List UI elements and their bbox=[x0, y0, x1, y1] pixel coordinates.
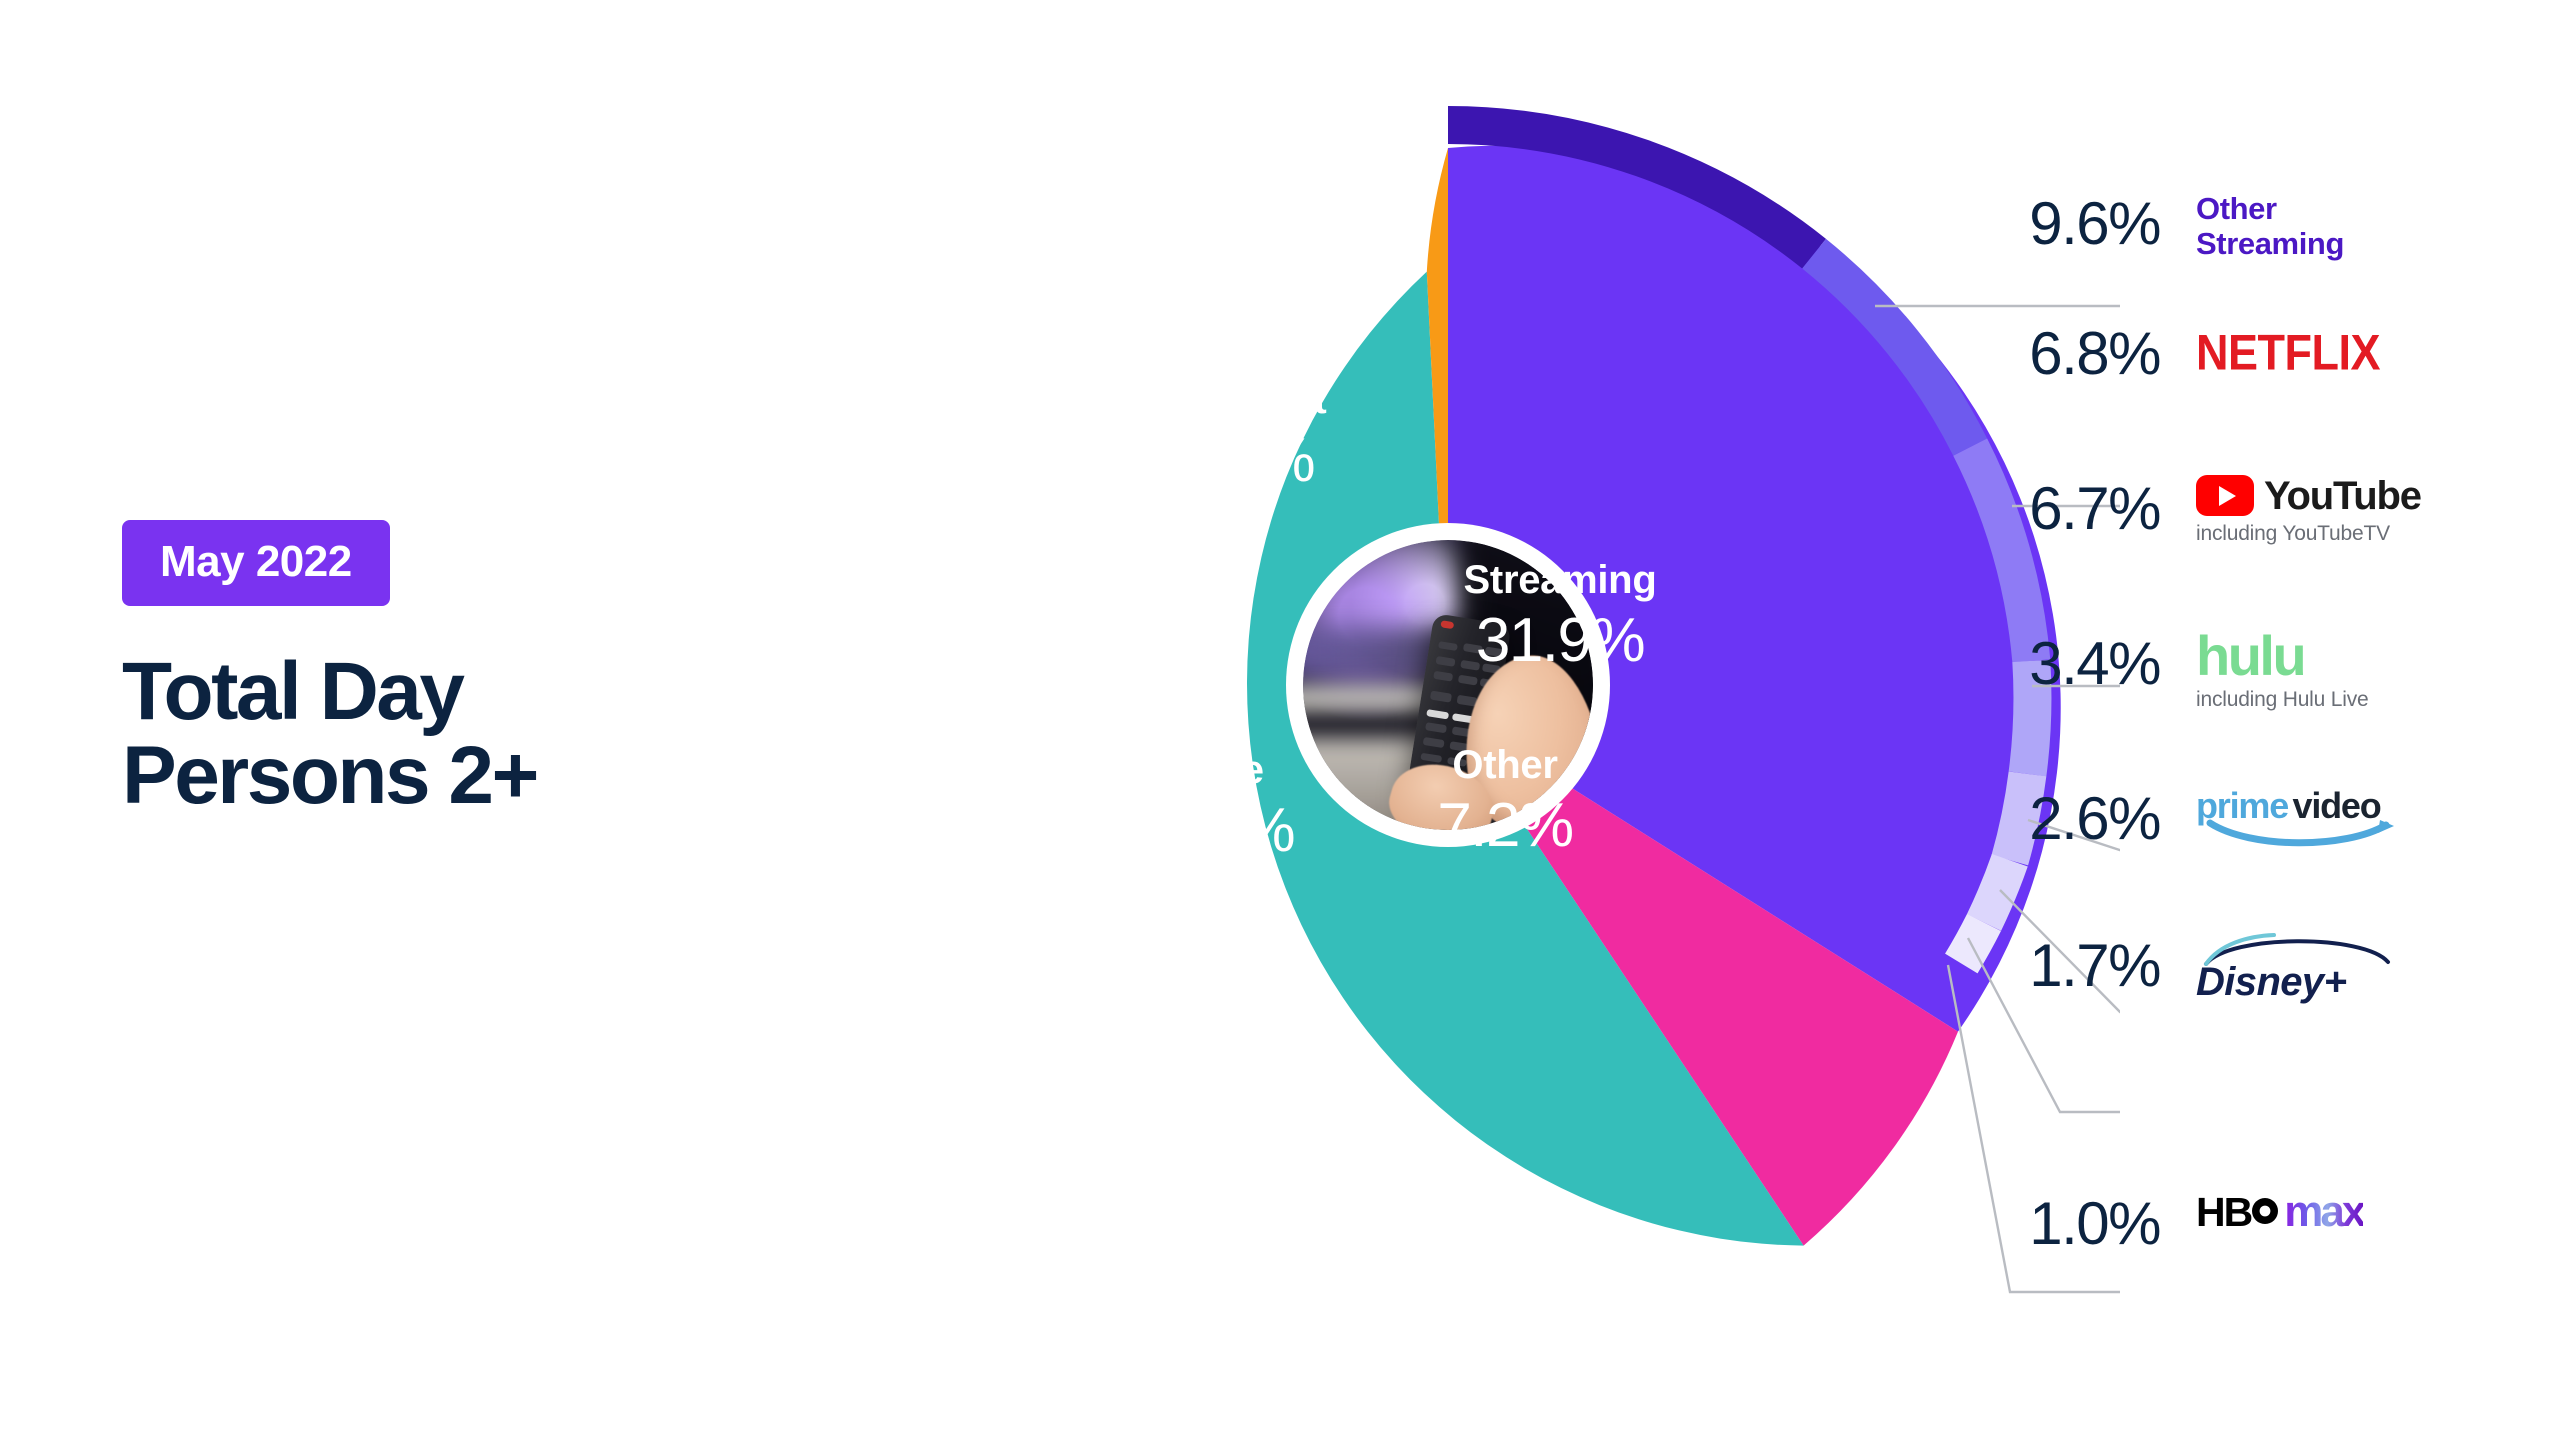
max-wordmark: max bbox=[2284, 1190, 2363, 1234]
legend-row-disney-plus[interactable]: 1.7% Disney+ bbox=[2000, 932, 2426, 1028]
slice-label-broadcast-value: 24.4% bbox=[1070, 430, 1390, 492]
slice-label-broadcast-name: Broadcast bbox=[1070, 380, 1390, 420]
legend-pct-youtube: 6.7% bbox=[2000, 475, 2160, 539]
page-title: Total Day Persons 2+ bbox=[122, 650, 762, 819]
slice-label-streaming-name: Streaming bbox=[1400, 560, 1720, 600]
youtube-play-icon bbox=[2196, 475, 2254, 516]
legend-brand-disney-plus: Disney+ bbox=[2196, 932, 2426, 1005]
donut-chart: Broadcast 24.4% Streaming 31.9% Cable 36… bbox=[760, 60, 2120, 1390]
legend-brand-netflix: NETFLIX bbox=[2196, 320, 2426, 371]
legend-pct-prime-video: 2.6% bbox=[2000, 785, 2160, 849]
legend-row-youtube[interactable]: 6.7% YouTube including YouTubeTV bbox=[2000, 475, 2426, 571]
legend-brand-other-streaming: Other Streaming bbox=[2196, 190, 2426, 261]
legend-pct-hulu: 3.4% bbox=[2000, 630, 2160, 694]
legend-row-other-streaming[interactable]: 9.6% Other Streaming bbox=[2000, 190, 2426, 286]
youtube-subtext: including YouTubeTV bbox=[2196, 522, 2426, 545]
legend-pct-other-streaming: 9.6% bbox=[2000, 190, 2160, 254]
legend-pct-disney-plus: 1.7% bbox=[2000, 932, 2160, 996]
legend-row-hulu[interactable]: 3.4% hulu including Hulu Live bbox=[2000, 630, 2426, 726]
legend-row-hbo-max[interactable]: 1.0% HB max bbox=[2000, 1190, 2426, 1286]
netflix-logo: NETFLIX bbox=[2196, 320, 2426, 377]
legend-row-netflix[interactable]: 6.8% NETFLIX bbox=[2000, 320, 2426, 416]
slice-label-cable-value: 36.5% bbox=[1050, 800, 1370, 862]
ring-segment-hbo-max[interactable] bbox=[1961, 923, 1984, 964]
date-badge: May 2022 bbox=[122, 520, 390, 606]
hulu-logo: hulu bbox=[2196, 630, 2426, 682]
other-streaming-label: Other Streaming bbox=[2196, 190, 2426, 261]
legend-pct-netflix: 6.8% bbox=[2000, 320, 2160, 384]
youtube-wordmark: YouTube bbox=[2264, 476, 2421, 516]
hbo-o-ring-icon bbox=[2250, 1196, 2280, 1226]
title-panel: May 2022 Total Day Persons 2+ bbox=[122, 520, 762, 819]
hulu-subtext: including Hulu Live bbox=[2196, 688, 2426, 711]
hbo-max-logo: HB max bbox=[2196, 1190, 2426, 1234]
hbo-wordmark: HB bbox=[2196, 1192, 2251, 1233]
youtube-logo: YouTube bbox=[2196, 475, 2426, 516]
legend-pct-hbo-max: 1.0% bbox=[2000, 1190, 2160, 1254]
slice-label-other-value: 7.2% bbox=[1380, 795, 1630, 857]
slice-label-streaming-value: 31.9% bbox=[1400, 610, 1720, 672]
slice-label-other-name: Other bbox=[1380, 745, 1630, 785]
slice-label-cable-name: Cable bbox=[1050, 750, 1370, 790]
disney-plus-logo: Disney+ bbox=[2196, 960, 2426, 1005]
legend-row-prime-video[interactable]: 2.6% prime video bbox=[2000, 785, 2426, 881]
slice-label-broadcast: Broadcast 24.4% bbox=[1070, 380, 1390, 492]
prime-video-logo: prime video bbox=[2196, 785, 2426, 843]
slice-label-streaming: Streaming 31.9% bbox=[1400, 560, 1720, 672]
legend-brand-hulu: hulu including Hulu Live bbox=[2196, 630, 2426, 711]
legend-brand-youtube: YouTube including YouTubeTV bbox=[2196, 475, 2426, 545]
amazon-smile-icon bbox=[2204, 819, 2404, 849]
slice-label-cable: Cable 36.5% bbox=[1050, 750, 1370, 862]
slice-label-other: Other 7.2% bbox=[1380, 745, 1630, 857]
